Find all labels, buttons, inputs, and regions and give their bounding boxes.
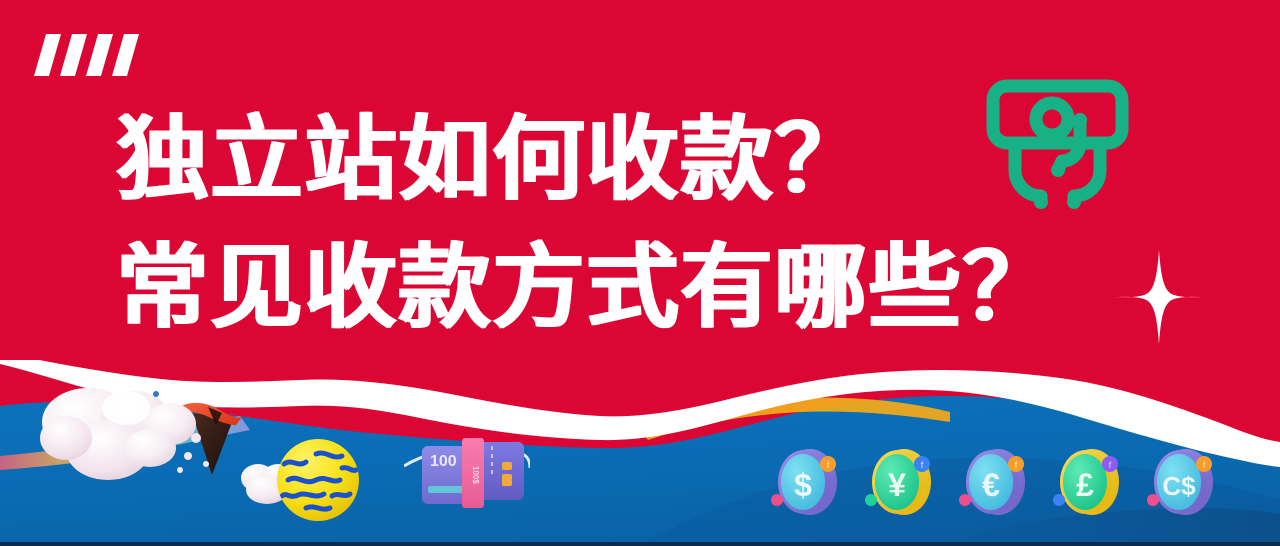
cloud-cluster (30, 378, 240, 503)
coin-symbol-gbp: £ (1076, 467, 1094, 503)
coin-symbol-usd: $ (794, 467, 812, 503)
svg-text:100: 100 (430, 453, 457, 470)
coin-usd: $ f (770, 444, 842, 520)
bottom-edge-strip (0, 542, 1280, 546)
coin-eur: € f (958, 444, 1030, 520)
sparkle-star-icon (1112, 250, 1206, 344)
slash-mark-3 (86, 34, 113, 76)
coin-symbol-cad: C$ (1162, 471, 1196, 501)
coin-symbol-jpy: ¥ (888, 467, 906, 503)
wallet-with-cards: 100 100$ (404, 432, 530, 514)
yellow-globe (276, 438, 360, 522)
coin-jpy: ¥ f (864, 444, 936, 520)
headline-block: 独立站如何收款？ 常见收款方式有哪些？ (116, 96, 1116, 352)
headline-line-1: 独立站如何收款？ (116, 96, 1116, 224)
slash-marks-decoration (40, 34, 150, 76)
slash-mark-2 (60, 34, 87, 76)
promo-banner: 独立站如何收款？ 常见收款方式有哪些？ (0, 0, 1280, 546)
coin-gbp: £ f (1052, 444, 1124, 520)
slash-mark-4 (112, 34, 139, 76)
coin-cad: C$ f (1146, 444, 1218, 520)
headline-line-2: 常见收款方式有哪些？ (116, 224, 1116, 352)
svg-text:100$: 100$ (471, 466, 480, 484)
coin-symbol-eur: € (982, 467, 1000, 503)
